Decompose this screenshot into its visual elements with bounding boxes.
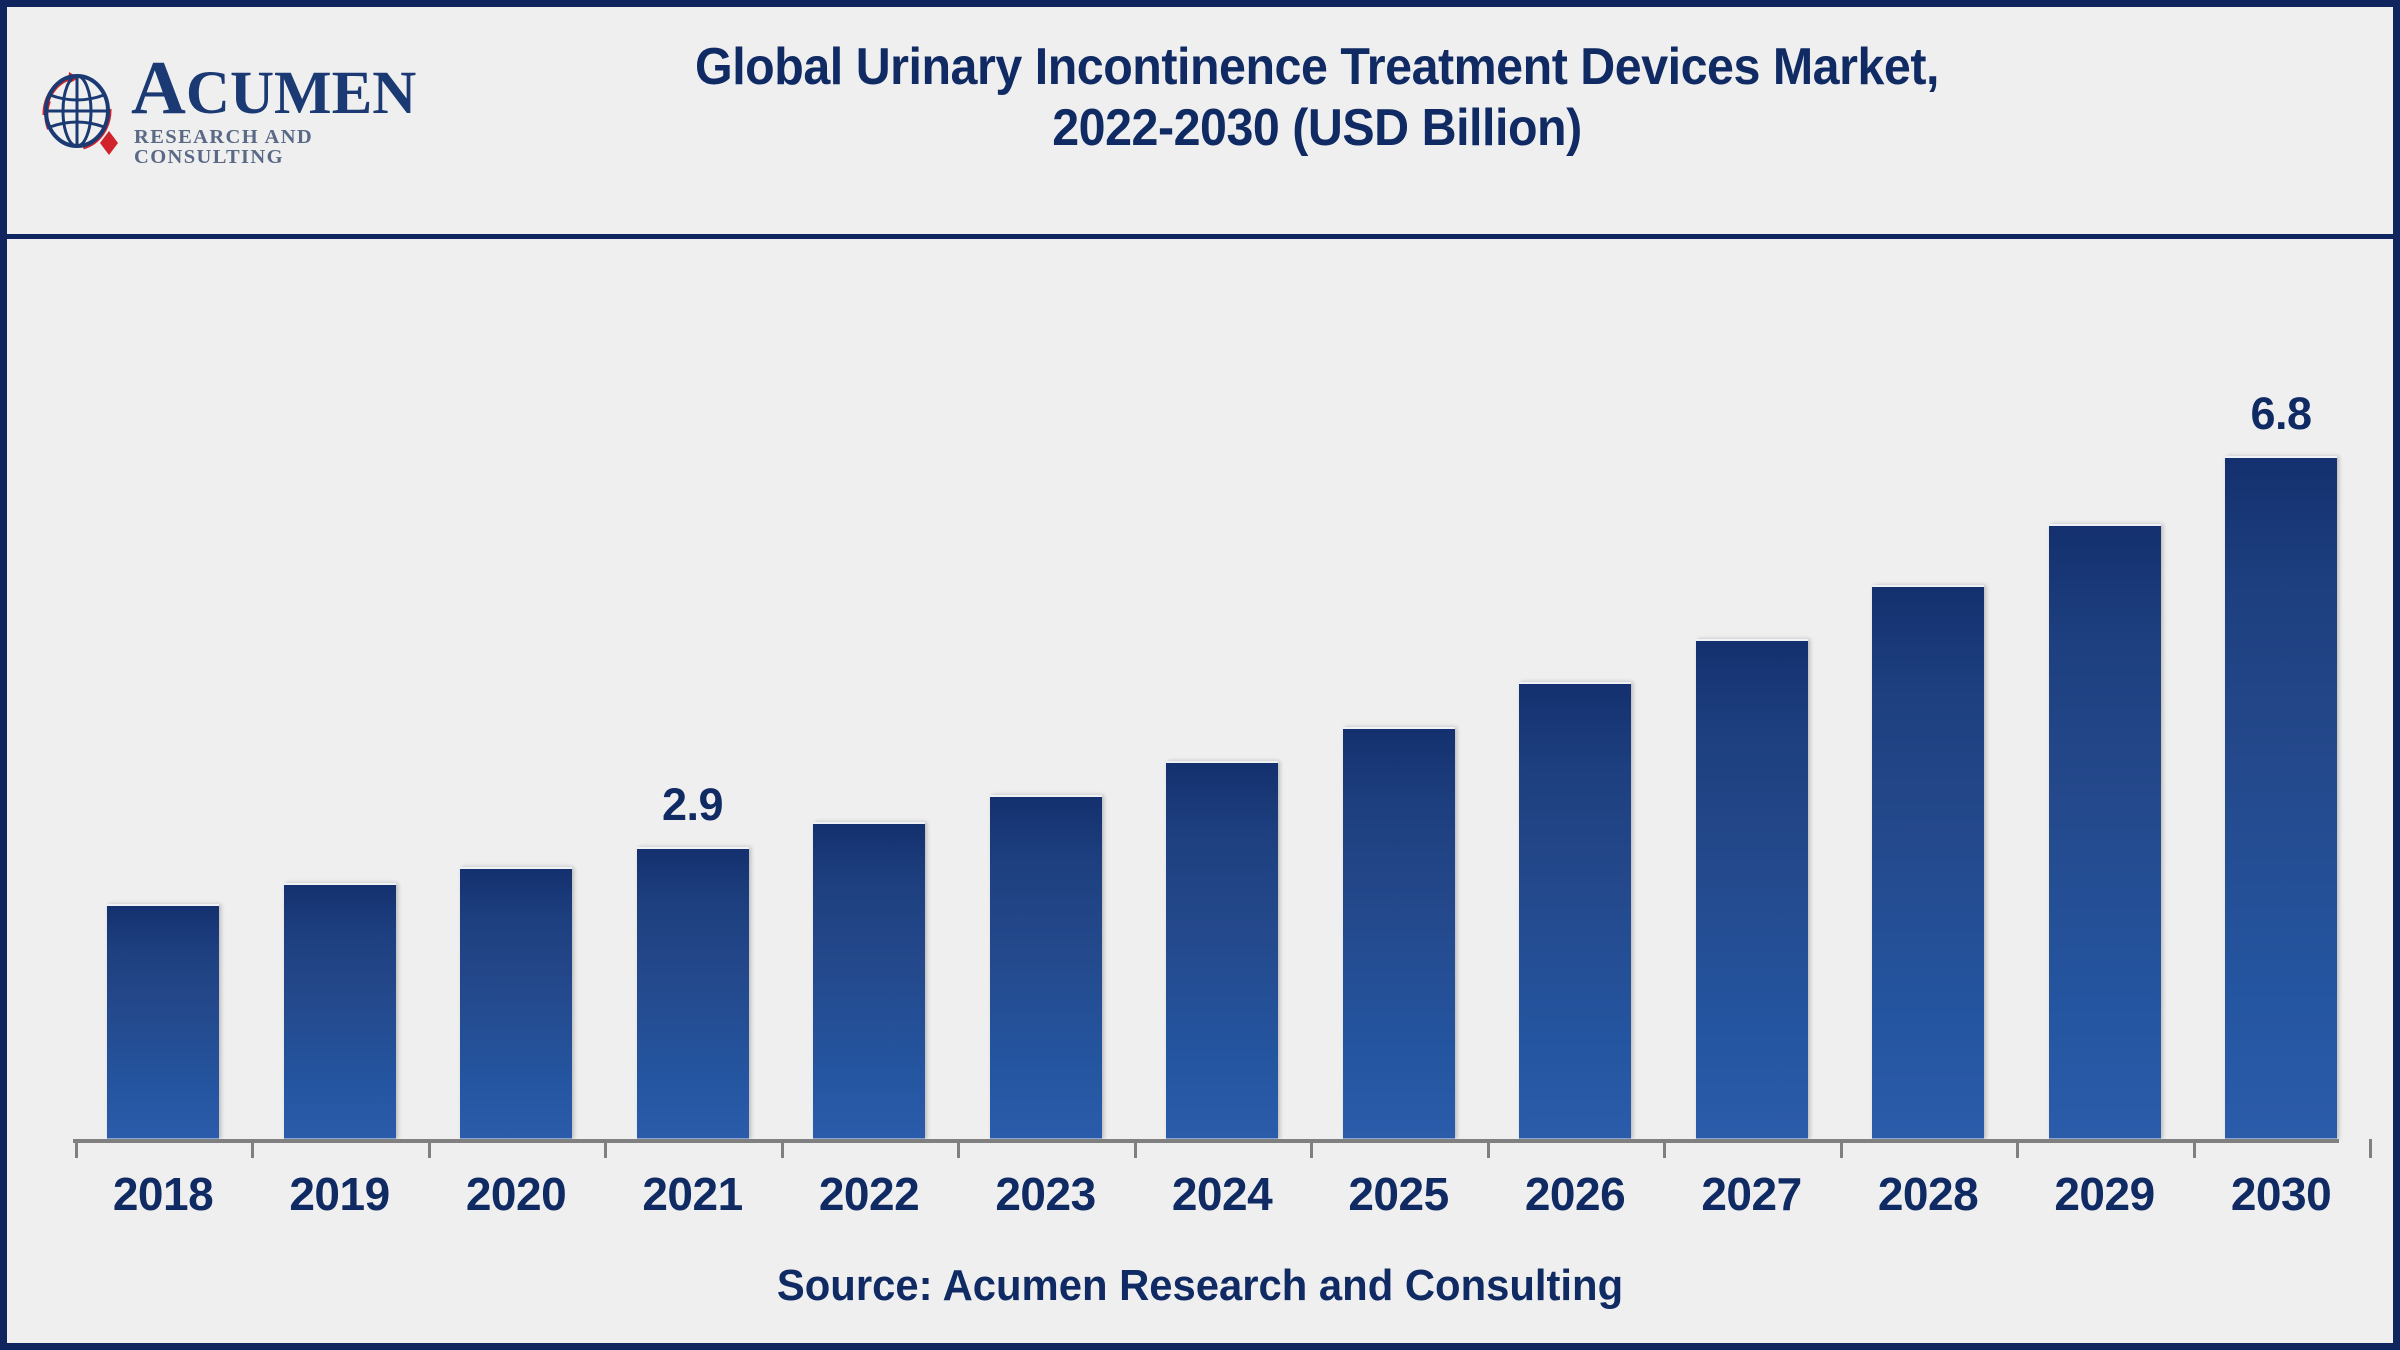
bar-2027 (1696, 639, 1808, 1139)
x-axis-label-2029: 2029 (2005, 1167, 2205, 1221)
bar-2021 (637, 847, 749, 1139)
x-axis-label-2022: 2022 (769, 1167, 969, 1221)
bar-2020 (460, 867, 572, 1139)
chart-title: Global Urinary Incontinence Treatment De… (499, 37, 2136, 160)
infographic-root: ACUMEN RESEARCH AND CONSULTING Global Ur… (0, 0, 2400, 1350)
bar-2029 (2049, 524, 2161, 1139)
x-axis-label-2025: 2025 (1299, 1167, 1499, 1221)
bar-2030 (2225, 456, 2337, 1139)
bar-2024 (1166, 761, 1278, 1139)
globe-arrows-icon (25, 59, 129, 163)
data-label-2021: 2.9 (593, 779, 793, 831)
x-axis-label-2026: 2026 (1475, 1167, 1675, 1221)
chart-title-line-1: Global Urinary Incontinence Treatment De… (499, 37, 2136, 98)
x-axis-label-2019: 2019 (240, 1167, 440, 1221)
bar-2018 (107, 904, 219, 1139)
logo-subtitle: RESEARCH AND CONSULTING (134, 127, 425, 168)
header: ACUMEN RESEARCH AND CONSULTING Global Ur… (7, 7, 2393, 239)
bar-2025 (1343, 727, 1455, 1139)
source-note: Source: Acumen Research and Consulting (67, 1261, 2334, 1311)
data-label-2030: 6.8 (2181, 388, 2381, 440)
x-axis-label-2027: 2027 (1652, 1167, 1852, 1221)
logo-word-rest: CUMEN (186, 60, 416, 127)
logo-wordmark: ACUMEN RESEARCH AND CONSULTING (131, 54, 425, 168)
x-axis-line (73, 1139, 2339, 1143)
bar-2019 (284, 883, 396, 1139)
acumen-logo: ACUMEN RESEARCH AND CONSULTING (25, 55, 425, 167)
bars-layer: 2018201920202021202220232024202520262027… (7, 239, 2393, 1343)
x-axis-label-2018: 2018 (63, 1167, 263, 1221)
x-axis-label-2030: 2030 (2181, 1167, 2381, 1221)
logo-word: ACUMEN (131, 54, 425, 124)
x-axis-label-2024: 2024 (1122, 1167, 1322, 1221)
x-axis-label-2020: 2020 (416, 1167, 616, 1221)
logo-word-cap: A (131, 46, 186, 130)
x-axis-label-2028: 2028 (1828, 1167, 2028, 1221)
bar-2023 (990, 795, 1102, 1139)
x-axis-label-2023: 2023 (946, 1167, 1146, 1221)
chart-plot-area: 2018201920202021202220232024202520262027… (7, 239, 2393, 1343)
bar-2028 (1872, 585, 1984, 1139)
x-axis-label-2021: 2021 (593, 1167, 793, 1221)
chart-title-line-2: 2022-2030 (USD Billion) (499, 98, 2136, 159)
bar-2026 (1519, 682, 1631, 1139)
bar-2022 (813, 822, 925, 1139)
x-tick-end (2369, 1139, 2372, 1158)
